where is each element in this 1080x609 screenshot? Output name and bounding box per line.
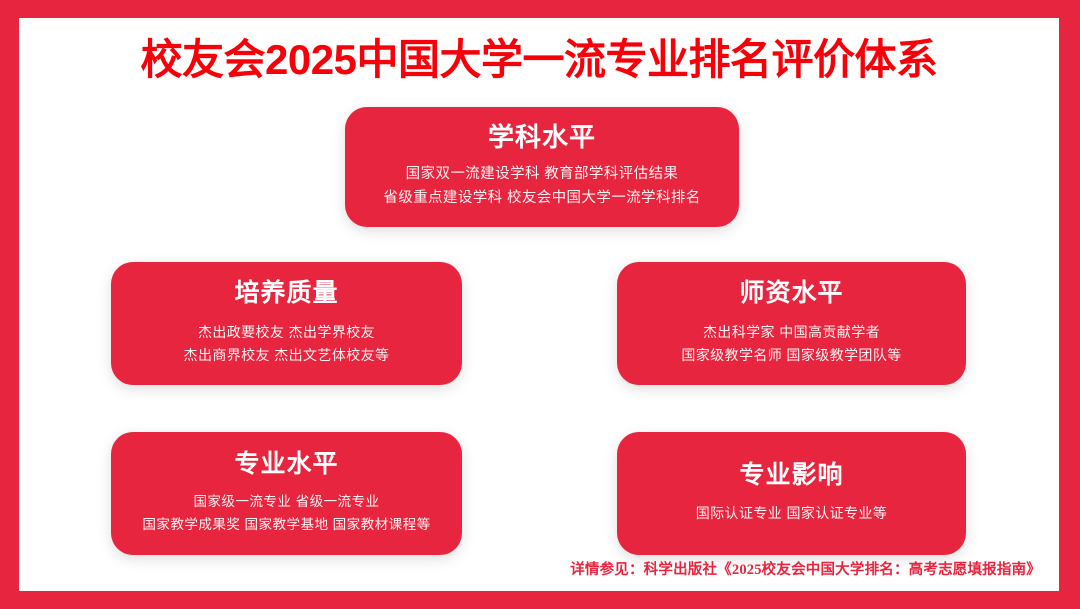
criterion-card-major-impact: 专业影响 国际认证专业 国家认证专业等 — [617, 432, 966, 555]
card-title: 专业影响 — [739, 462, 843, 490]
poster-inner-panel: 校友会2025中国大学一流专业排名评价体系 学科水平 国家双一流建设学科 教育部… — [19, 18, 1059, 591]
card-detail-line: 国际认证专业 国家认证专业等 — [696, 502, 888, 525]
card-title: 专业水平 — [234, 451, 338, 479]
card-detail-line: 国家级一流专业 省级一流专业 — [142, 491, 430, 513]
poster-frame: 校友会2025中国大学一流专业排名评价体系 学科水平 国家双一流建设学科 教育部… — [0, 0, 1080, 609]
card-detail-line: 杰出科学家 中国高贡献学者 — [681, 321, 901, 344]
page-title: 校友会2025中国大学一流专业排名评价体系 — [19, 36, 1059, 84]
criterion-card-major-level: 专业水平 国家级一流专业 省级一流专业 国家教学成果奖 国家教学基地 国家教材课… — [111, 432, 462, 555]
card-detail-line: 国家教学成果奖 国家教学基地 国家教材课程等 — [142, 514, 430, 536]
card-detail-list: 杰出科学家 中国高贡献学者 国家级教学名师 国家级教学团队等 — [681, 321, 901, 367]
criterion-card-faculty-level: 师资水平 杰出科学家 中国高贡献学者 国家级教学名师 国家级教学团队等 — [617, 262, 966, 385]
card-detail-line: 国家级教学名师 国家级教学团队等 — [681, 344, 901, 367]
card-title: 师资水平 — [739, 280, 843, 308]
criterion-card-subject-level: 学科水平 国家双一流建设学科 教育部学科评估结果 省级重点建设学科 校友会中国大… — [345, 107, 739, 227]
card-detail-list: 国家级一流专业 省级一流专业 国家教学成果奖 国家教学基地 国家教材课程等 — [142, 491, 430, 536]
card-detail-list: 国际认证专业 国家认证专业等 — [696, 502, 888, 525]
card-detail-line: 省级重点建设学科 校友会中国大学一流学科排名 — [383, 187, 700, 211]
source-note: 详情参见：科学出版社《2025校友会中国大学排名：高考志愿填报指南》 — [570, 558, 1041, 579]
card-title: 培养质量 — [234, 280, 338, 308]
card-detail-line: 杰出商界校友 杰出文艺体校友等 — [184, 344, 390, 367]
card-detail-line: 杰出政要校友 杰出学界校友 — [184, 321, 390, 344]
card-title: 学科水平 — [488, 123, 596, 152]
card-detail-list: 杰出政要校友 杰出学界校友 杰出商界校友 杰出文艺体校友等 — [184, 321, 390, 367]
card-detail-list: 国家双一流建设学科 教育部学科评估结果 省级重点建设学科 校友会中国大学一流学科… — [383, 163, 700, 211]
criterion-card-training-quality: 培养质量 杰出政要校友 杰出学界校友 杰出商界校友 杰出文艺体校友等 — [111, 262, 462, 385]
card-detail-line: 国家双一流建设学科 教育部学科评估结果 — [383, 163, 700, 187]
